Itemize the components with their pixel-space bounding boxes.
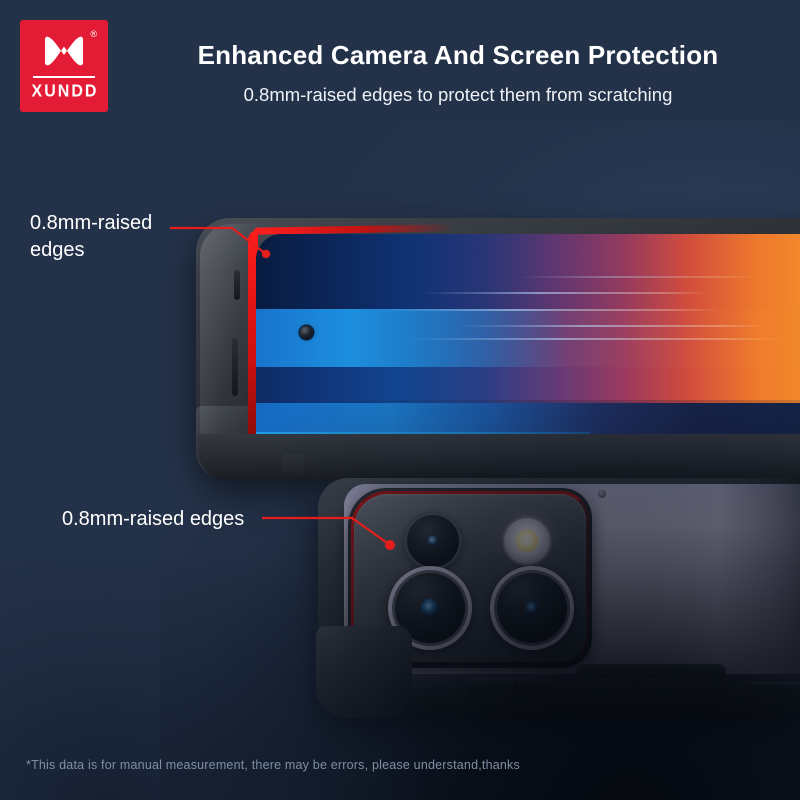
annotation-label-screen-edge: 0.8mm-raised edges (30, 210, 152, 264)
macro-lens-icon (404, 512, 462, 570)
led-flash-icon (502, 516, 552, 566)
page-subtitle: 0.8mm-raised edges to protect them from … (128, 84, 788, 106)
lens-iris (525, 601, 540, 616)
wallpaper-streak (423, 292, 709, 294)
bottom-phone-corner-bumper (316, 626, 412, 718)
registered-mark: ® (90, 30, 97, 39)
lens-iris (428, 536, 439, 547)
brand-logo: ® XUNDD (20, 20, 108, 112)
wallpaper-band-top (256, 234, 800, 309)
microphone-icon (598, 490, 606, 498)
top-phone-front (196, 218, 800, 486)
top-phone-power-button (232, 338, 238, 396)
front-camera-icon (300, 326, 313, 339)
logo-wordmark: XUNDD (32, 82, 99, 102)
wallpaper-streak (411, 338, 781, 340)
speaker-hole (514, 684, 519, 689)
bottom-phone-side-button (576, 664, 726, 678)
wallpaper-streak (375, 309, 721, 311)
logo-divider (33, 76, 95, 78)
wallpaper-streak (459, 325, 769, 327)
top-phone-case-notch (282, 454, 304, 476)
bottom-phone-port-cut (742, 682, 800, 694)
wallpaper-streak (518, 276, 756, 278)
ultrawide-lens-icon (490, 566, 574, 650)
product-marketing-image: ® XUNDD Enhanced Camera And Screen Prote… (0, 0, 800, 800)
annotation-label-camera-edge: 0.8mm-raised edges (62, 506, 244, 533)
flash-core (516, 530, 538, 552)
lens-iris (421, 599, 440, 618)
top-phone-volume-button (234, 270, 240, 300)
logo-mark-icon: ® (33, 33, 95, 69)
top-phone-screen (256, 234, 800, 456)
bottom-phone-speaker-grille (466, 678, 552, 694)
page-title: Enhanced Camera And Screen Protection (128, 40, 788, 71)
disclaimer-text: *This data is for manual measurement, th… (26, 758, 520, 772)
bottom-phone-back (318, 478, 800, 728)
xundd-hourglass-icon (41, 35, 87, 67)
